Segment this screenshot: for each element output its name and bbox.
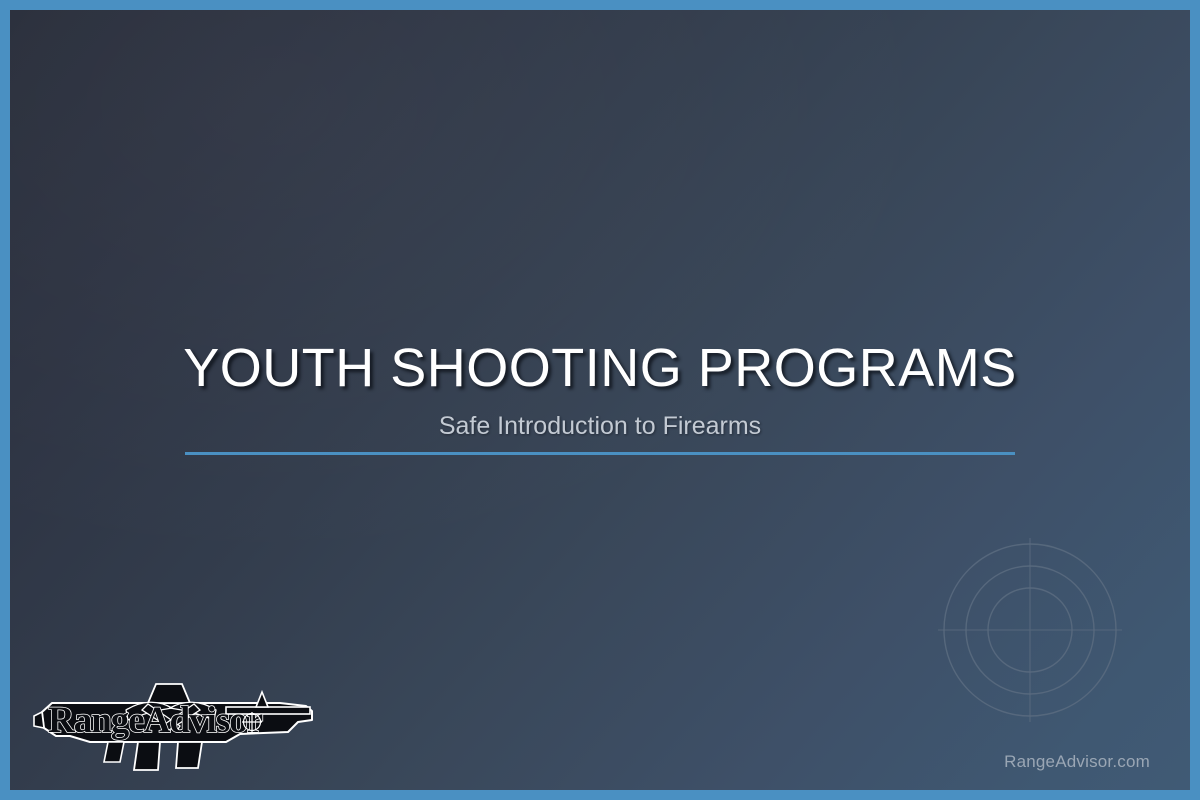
crosshair-target-icon [920, 520, 1140, 740]
accent-divider [185, 452, 1015, 455]
brand-logo-text: RangeAdvisor [48, 700, 263, 741]
footer-website: RangeAdvisor.com [1004, 752, 1150, 772]
page-subtitle: Safe Introduction to Firearms [10, 411, 1190, 441]
page-title: YOUTH SHOOTING PROGRAMS [10, 340, 1190, 397]
presentation-slide: YOUTH SHOOTING PROGRAMS Safe Introductio… [0, 0, 1200, 800]
brand-logo: RangeAdvisor [30, 670, 315, 775]
title-block: YOUTH SHOOTING PROGRAMS Safe Introductio… [10, 340, 1190, 441]
slide-canvas: YOUTH SHOOTING PROGRAMS Safe Introductio… [10, 10, 1190, 790]
